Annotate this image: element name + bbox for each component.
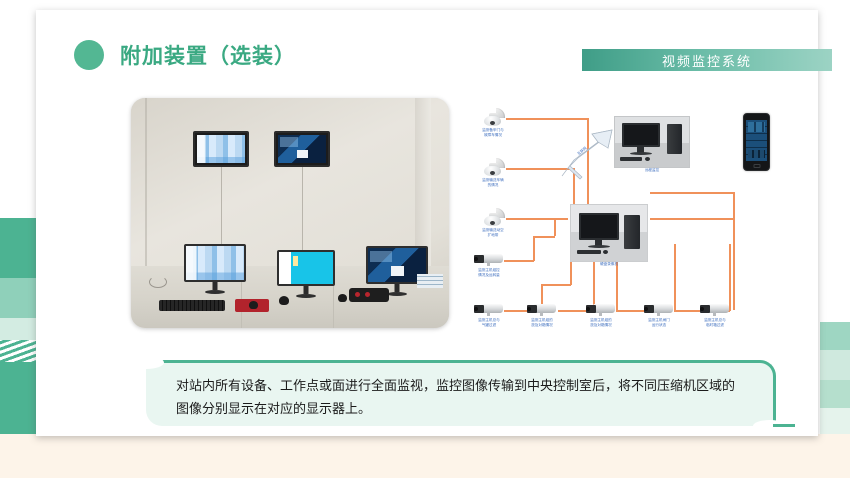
- photo-wall-right: [415, 98, 431, 270]
- caption-box: 对站内所有设备、工作点或面进行全面监视，监控图像传输到中央控制室后，将不同压缩机…: [146, 360, 776, 426]
- connector-hub-right-2: [650, 218, 734, 220]
- node-bullet-camera-3-label: 监测主机组的 放及对箱情况: [531, 318, 553, 328]
- section-banner: 视频监控系统: [582, 49, 832, 71]
- caption-text: 对站内所有设备、工作点或面进行全面监视，监控图像传输到中央控制室后，将不同压缩机…: [146, 363, 773, 421]
- node-bullet-camera-2: 监测主机总与 气罐过滤: [474, 303, 504, 317]
- wall-tv-1: [193, 131, 249, 167]
- dvr-computer-icon: [570, 204, 648, 262]
- decor-right-band-1: [820, 322, 850, 350]
- bullet-camera-icon: [474, 253, 504, 267]
- node-bullet-camera-4-label: 监测主机组的 放及对箱情况: [590, 318, 612, 328]
- control-room-photo: [131, 98, 449, 328]
- connector-bullet-1-v: [533, 236, 535, 261]
- mouse-1: [249, 301, 258, 309]
- wall-tv-2: [274, 131, 330, 167]
- node-ptz-camera-2-label: 监测输送车辆 的情况: [482, 178, 504, 188]
- decor-right-band-3: [820, 380, 850, 408]
- bullet-camera-icon: [586, 303, 616, 317]
- node-ptz-camera-3: 监测输送动空 扩地带: [480, 208, 506, 227]
- ptz-dome-camera-icon: [480, 108, 506, 127]
- mobile-phone-icon: [743, 113, 770, 171]
- ptz-joystick-controller: [349, 288, 389, 302]
- connector-bullet-1-v2: [554, 218, 556, 236]
- caption-dash: [773, 424, 795, 427]
- mouse-3: [338, 294, 347, 302]
- connector-ptz-1-h: [506, 118, 588, 120]
- mouse-2: [279, 296, 289, 305]
- ptz-dome-camera-icon: [480, 208, 506, 227]
- wall-tv-2-screen: [278, 135, 326, 163]
- node-bullet-camera-5-label: 监测主机闸门 运行状态: [648, 318, 670, 328]
- slide-card: 附加装置（选装） 视频监控系统: [36, 10, 818, 436]
- node-remote-pc-label: 远程监控: [645, 168, 659, 173]
- node-bullet-camera-5: 监测主机闸门 运行状态: [644, 303, 674, 317]
- connector-right-trunk: [733, 192, 735, 310]
- node-bullet-camera-1: 监测主机组控 情况及运转量: [474, 253, 504, 267]
- decor-right-band-2: [820, 350, 850, 380]
- node-bullet-camera-3: 监测主机组的 放及对箱情况: [527, 303, 557, 317]
- connector-ptz-3-h: [506, 218, 568, 220]
- slide-title-row: 附加装置（选装）: [74, 40, 296, 70]
- node-bullet-camera-6: 监测主机总与 临时箱过滤: [700, 303, 730, 317]
- photo-wall-edge: [145, 98, 147, 266]
- bullet-camera-icon: [474, 303, 504, 317]
- page-title: 附加装置（选装）: [120, 40, 296, 70]
- node-ptz-camera-1: 监测备甲门与 故障车情况: [480, 108, 506, 127]
- node-bullet-camera-6-label: 监测主机总与 临时箱过滤: [704, 318, 726, 328]
- connector-bottom-1-h2: [541, 284, 571, 286]
- bullet-camera-icon: [700, 303, 730, 317]
- bullet-circle-icon: [74, 40, 104, 70]
- connector-hub-right-1: [650, 192, 734, 194]
- connector-bottom-5-v: [729, 244, 731, 311]
- decor-bottom-strip: [0, 434, 850, 478]
- internet-uplink-arrow: 互联网: [560, 128, 616, 180]
- caption-notch-left: [128, 356, 164, 369]
- desk-cable: [149, 276, 167, 288]
- connector-bullet-1-h: [504, 260, 534, 262]
- bullet-camera-icon: [527, 303, 557, 317]
- node-bullet-camera-4: 监测主机组的 放及对箱情况: [586, 303, 616, 317]
- section-banner-label: 视频监控系统: [662, 51, 752, 70]
- remote-desktop-icon: [614, 116, 690, 168]
- desk-monitor-2: [277, 250, 335, 286]
- node-dvr-hub-label: 硬盘录像机: [600, 262, 618, 267]
- wall-tv-1-screen: [197, 135, 245, 163]
- stacked-books: [417, 274, 443, 288]
- arrow-up-right-icon: [560, 128, 616, 180]
- node-ptz-camera-2: 监测输送车辆 的情况: [480, 158, 506, 177]
- connector-bottom-4-v: [674, 244, 676, 311]
- node-bullet-camera-1-label: 监测主机组控 情况及运转量: [478, 268, 500, 278]
- connector-bullet-1-h2: [533, 236, 555, 238]
- bullet-camera-icon: [644, 303, 674, 317]
- node-bullet-camera-2-label: 监测主机总与 气罐过滤: [478, 318, 500, 328]
- ptz-dome-camera-icon: [480, 158, 506, 177]
- node-ptz-camera-1-label: 监测备甲门与 故障车情况: [482, 128, 504, 138]
- surveillance-topology-diagram: 监测备甲门与 故障车情况 监测输送车辆 的情况 监测输送动空 扩地带: [464, 94, 820, 342]
- desk-monitor-1: [184, 244, 246, 282]
- node-ptz-camera-3-label: 监测输送动空 扩地带: [482, 228, 504, 238]
- keyboard-1: [159, 300, 225, 311]
